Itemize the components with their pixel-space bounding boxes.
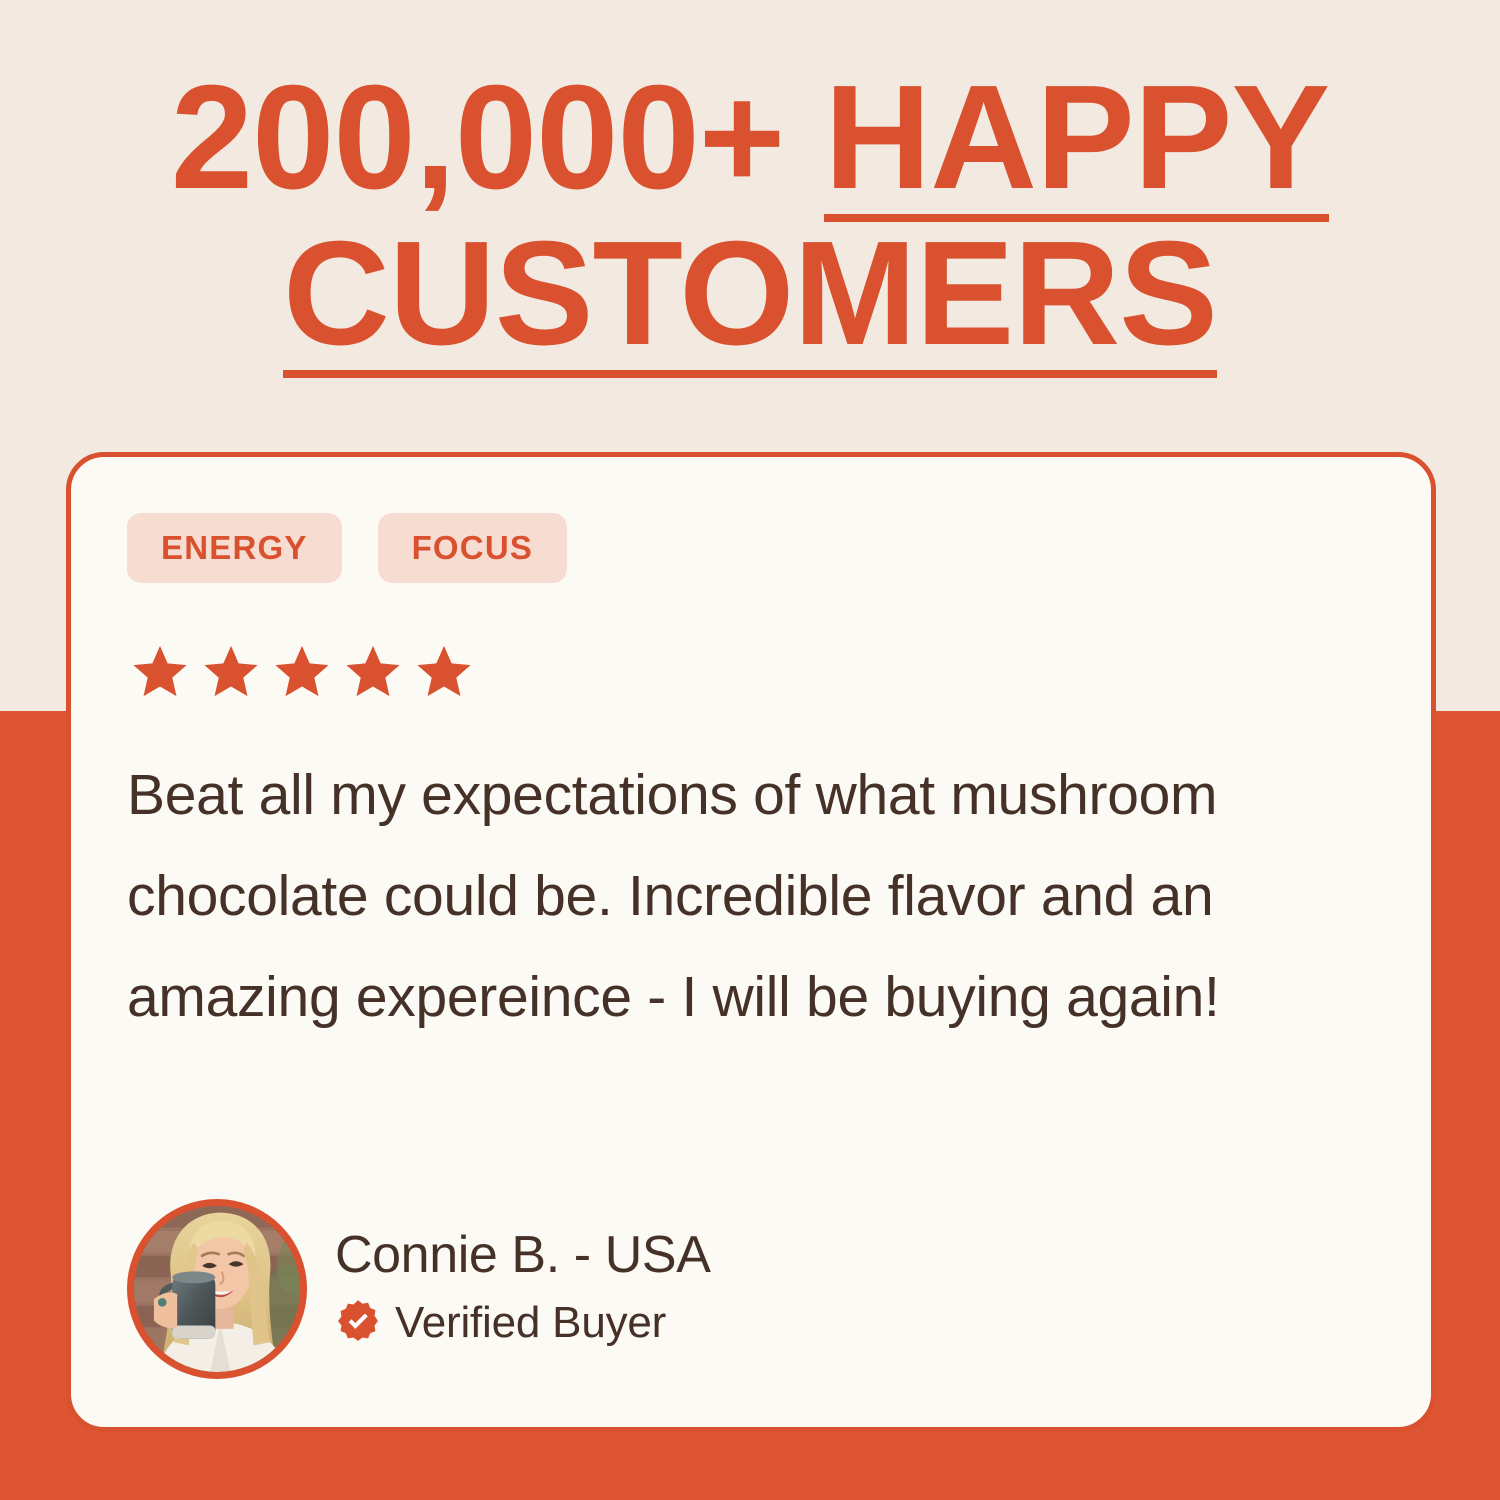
verified-buyer-label: Verified Buyer (395, 1298, 666, 1348)
review-card: ENERGY FOCUS Beat all my expectations of… (66, 452, 1436, 1432)
page-title: 200,000+ HAPPY CUSTOMERS (0, 62, 1500, 374)
benefit-tag-focus[interactable]: FOCUS (378, 513, 568, 583)
star-icon-3 (271, 642, 333, 706)
headline-emphasis-happy: HAPPY (824, 62, 1329, 218)
headline-line-1: 200,000+ HAPPY (0, 62, 1500, 218)
avatar (127, 1199, 307, 1379)
review-body-text: Beat all my expectations of what mushroo… (127, 745, 1397, 1048)
reviewer-meta: Connie B. - USA Verified Buyer (335, 1224, 711, 1355)
benefit-tag-row: ENERGY FOCUS (127, 513, 567, 583)
verified-buyer-row: Verified Buyer (335, 1298, 711, 1349)
star-icon-1 (129, 642, 191, 706)
star-icon-4 (342, 642, 404, 706)
verified-check-badge-icon (335, 1298, 381, 1349)
headline-line-2: CUSTOMERS (0, 218, 1500, 374)
reviewer-name: Connie B. - USA (335, 1224, 711, 1286)
star-icon-5 (413, 642, 475, 706)
reviewer-block: Connie B. - USA Verified Buyer (127, 1199, 711, 1379)
headline-count: 200,000+ (171, 55, 825, 220)
star-icon-2 (200, 642, 262, 706)
benefit-tag-energy[interactable]: ENERGY (127, 513, 342, 583)
rating-stars (129, 642, 475, 706)
headline-emphasis-customers: CUSTOMERS (283, 218, 1217, 374)
